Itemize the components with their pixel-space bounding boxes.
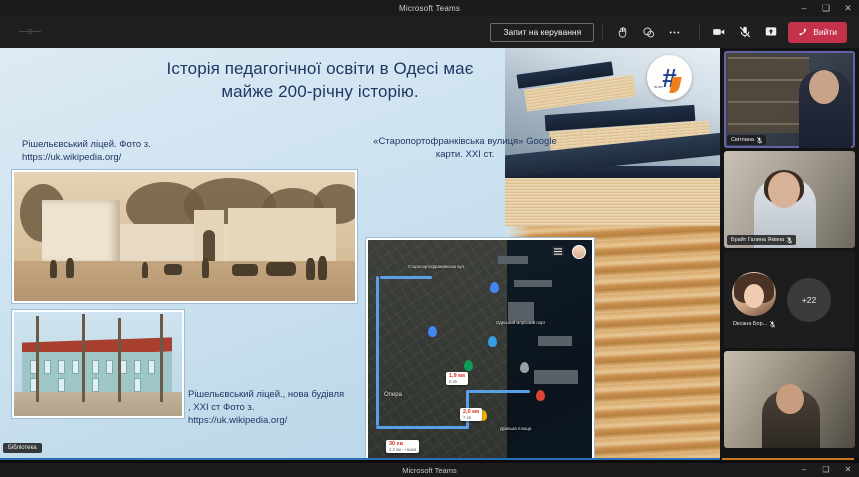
toolbar-divider-2 bbox=[699, 23, 700, 41]
logo-subtext: ПНПУ bbox=[654, 85, 663, 89]
window-title: Microsoft Teams bbox=[399, 4, 460, 13]
drag-handle-icon[interactable] bbox=[18, 29, 42, 36]
shared-content-stage[interactable]: # ПНПУ Історія педагогічної освіти в Оде… bbox=[0, 48, 720, 458]
minimize-button[interactable]: – bbox=[793, 0, 815, 16]
toolbar-icon-group-1 bbox=[611, 21, 691, 43]
participant-2-head bbox=[768, 172, 800, 208]
caption-modern-photo: Рішельєвський ліцей., нова будівля , XXI… bbox=[188, 389, 348, 427]
overflow-participants-button[interactable]: +22 bbox=[787, 278, 831, 322]
participant-1-name: Світлана bbox=[731, 137, 754, 143]
map-route-3-time: 2,2 км – пішки bbox=[389, 448, 416, 453]
request-control-button[interactable]: Запит на керування bbox=[490, 23, 594, 42]
map-port-label: Одеський морський порт bbox=[496, 320, 545, 325]
microphone-muted-icon bbox=[757, 137, 762, 144]
participant-1-head bbox=[809, 70, 839, 104]
reactions-icon[interactable] bbox=[637, 21, 659, 43]
participants-roster: Світлана Брайт Галина Яківна bbox=[720, 48, 859, 458]
toolbar-divider-1 bbox=[602, 23, 603, 41]
secondary-minimize-button[interactable]: – bbox=[793, 463, 815, 477]
slide-title: Історія педагогічної освіти в Одесі має … bbox=[60, 58, 580, 104]
slide-title-line-1: Історія педагогічної освіти в Одесі має bbox=[60, 58, 580, 81]
secondary-close-button[interactable]: ✕ bbox=[837, 463, 859, 477]
modern-lyceum-photo bbox=[12, 310, 184, 418]
leave-meeting-button[interactable]: Вийти bbox=[788, 22, 847, 43]
map-route-1-time: 6 хв bbox=[449, 380, 465, 385]
maximize-button[interactable]: ❑ bbox=[815, 0, 837, 16]
avatar bbox=[732, 272, 776, 316]
more-options-icon[interactable] bbox=[663, 21, 685, 43]
participant-2-name-badge: Брайт Галина Яківна bbox=[727, 235, 796, 245]
window-controls: – ❑ ✕ bbox=[793, 0, 859, 16]
share-screen-icon[interactable] bbox=[760, 21, 782, 43]
participant-tile-4[interactable] bbox=[724, 351, 855, 448]
map-opera-label: Опера bbox=[384, 392, 402, 398]
participant-1-name-badge: Світлана bbox=[727, 135, 766, 145]
leave-button-label: Вийти bbox=[813, 27, 837, 37]
secondary-maximize-button[interactable]: ❑ bbox=[815, 463, 837, 477]
map-square-label: Думська площа bbox=[500, 426, 531, 431]
participant-tile-2[interactable]: Брайт Галина Яківна bbox=[724, 151, 855, 248]
map-route-chip-3[interactable]: 30 хв 2,2 км – пішки bbox=[386, 440, 419, 453]
microphone-muted-icon bbox=[787, 237, 792, 244]
participant-3-name: Оксана Бор... bbox=[733, 321, 768, 327]
caption-historic-photo: Рішельєвський ліцей. Фото з. https://uk.… bbox=[22, 139, 222, 165]
participant-3[interactable]: Оксана Бор... bbox=[730, 272, 778, 328]
close-button[interactable]: ✕ bbox=[837, 0, 859, 16]
google-map-screenshot: Старопортофранківська вул. Опера Одеськи… bbox=[366, 238, 594, 458]
map-street-label: Старопортофранківська вул. bbox=[408, 264, 465, 269]
caption-map-title: «Старопортофранківська вулиця» Google ка… bbox=[370, 136, 560, 162]
map-route-chip-1[interactable]: 1,9 км 6 хв bbox=[446, 372, 468, 385]
stage-accent-orange bbox=[722, 458, 854, 460]
slide-title-line-2: майже 200-річну історію. bbox=[60, 81, 580, 104]
historic-lyceum-photo bbox=[12, 170, 357, 303]
toolbar-icon-group-2 bbox=[708, 21, 788, 43]
microphone-muted-icon[interactable] bbox=[734, 21, 756, 43]
institute-hash-logo: # ПНПУ bbox=[647, 55, 692, 100]
map-account-avatar[interactable] bbox=[572, 245, 586, 259]
participant-4-head bbox=[776, 384, 804, 414]
camera-icon[interactable] bbox=[708, 21, 730, 43]
secondary-window-controls: – ❑ ✕ bbox=[793, 463, 859, 477]
bookshelf-background bbox=[728, 57, 809, 133]
map-menu-icon[interactable] bbox=[552, 246, 564, 256]
toolbar-drag-area[interactable] bbox=[0, 29, 60, 36]
window-title-bar: Microsoft Teams – ❑ ✕ bbox=[0, 0, 859, 16]
stage-accent-blue bbox=[0, 458, 720, 460]
raise-hand-icon[interactable] bbox=[611, 21, 633, 43]
participant-3-name-badge: Оксана Бор... bbox=[730, 321, 778, 328]
teams-meeting-window: Microsoft Teams – ❑ ✕ Запит на керування bbox=[0, 0, 859, 477]
microphone-muted-icon bbox=[770, 321, 775, 328]
secondary-window-title: Microsoft Teams bbox=[402, 466, 456, 475]
toolbar-actions: Запит на керування bbox=[60, 21, 859, 43]
meeting-toolbar: Запит на керування bbox=[0, 16, 859, 48]
map-route-2-time: 7 хв bbox=[463, 416, 479, 421]
hangup-icon bbox=[798, 26, 809, 39]
presentation-slide: # ПНПУ Історія педагогічної освіти в Оде… bbox=[0, 48, 720, 458]
avatar-row: Оксана Бор... +22 bbox=[724, 251, 855, 348]
presenter-name-tag: Бібліотека bbox=[3, 443, 42, 453]
logo-hash-glyph: # bbox=[662, 65, 676, 91]
participant-tile-3[interactable]: Оксана Бор... +22 bbox=[724, 251, 855, 348]
secondary-window-title-bar: Microsoft Teams – ❑ ✕ bbox=[0, 463, 859, 477]
participant-2-name: Брайт Галина Яківна bbox=[731, 237, 784, 243]
map-route-chip-2[interactable]: 2,0 км 7 хв bbox=[460, 408, 482, 421]
participant-tile-1[interactable]: Світлана bbox=[724, 51, 855, 148]
